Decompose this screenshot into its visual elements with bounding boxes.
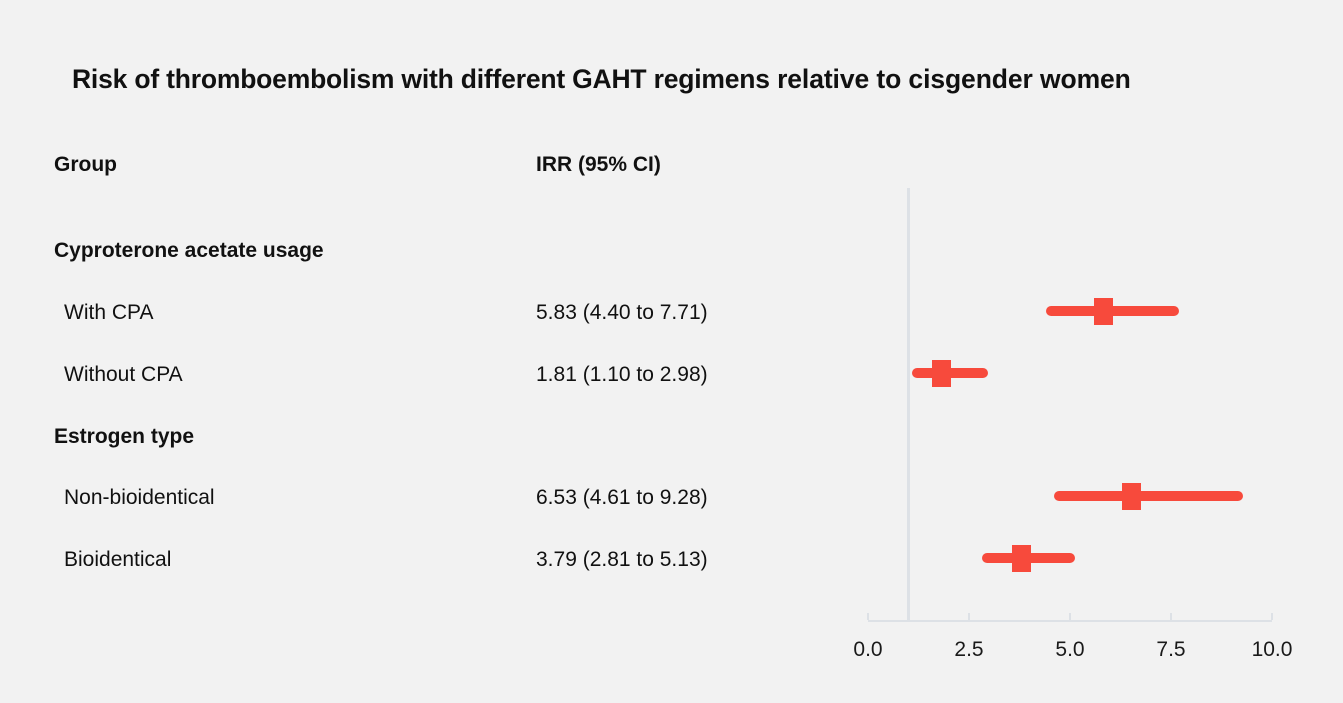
row-label: Without CPA — [64, 362, 183, 388]
confidence-interval-bar — [982, 553, 1076, 563]
row-value-irr: 6.53 (4.61 to 9.28) — [536, 485, 708, 511]
x-axis-tick — [968, 613, 970, 620]
reference-line — [907, 188, 910, 620]
x-axis-tick — [1069, 613, 1071, 620]
row-label: Bioidentical — [64, 547, 171, 573]
x-axis-tick-label: 0.0 — [853, 638, 882, 662]
x-axis-tick — [867, 613, 869, 620]
point-estimate-marker — [1122, 483, 1141, 510]
x-axis-tick-label: 2.5 — [954, 638, 983, 662]
page-title: Risk of thromboembolism with different G… — [72, 62, 1292, 96]
row-label: Non-bioidentical — [64, 485, 215, 511]
row-value-irr: 3.79 (2.81 to 5.13) — [536, 547, 708, 573]
forest-plot-figure: Risk of thromboembolism with different G… — [0, 0, 1343, 703]
confidence-interval-bar — [912, 368, 988, 378]
point-estimate-marker — [932, 360, 951, 387]
plot-panel: 0.02.55.07.510.0 — [0, 0, 1343, 703]
group-heading: Estrogen type — [54, 424, 194, 450]
group-heading: Cyproterone acetate usage — [54, 238, 324, 264]
x-axis-tick-label: 10.0 — [1252, 638, 1293, 662]
row-value-irr: 5.83 (4.40 to 7.71) — [536, 300, 708, 326]
x-axis-line — [868, 620, 1272, 622]
row-value-irr: 1.81 (1.10 to 2.98) — [536, 362, 708, 388]
confidence-interval-bar — [1054, 491, 1243, 501]
x-axis-tick — [1271, 613, 1273, 620]
page-title-normal: relative to cisgender women — [770, 64, 1131, 94]
point-estimate-marker — [1094, 298, 1113, 325]
x-axis-tick-label: 7.5 — [1156, 638, 1185, 662]
page-title-strong: Risk of thromboembolism with different G… — [72, 64, 770, 94]
confidence-interval-bar — [1046, 306, 1180, 316]
column-header-irr: IRR (95% CI) — [536, 153, 661, 177]
point-estimate-marker — [1012, 545, 1031, 572]
x-axis-tick-label: 5.0 — [1055, 638, 1084, 662]
row-label: With CPA — [64, 300, 153, 326]
column-header-group: Group — [54, 153, 117, 177]
x-axis-tick — [1170, 613, 1172, 620]
